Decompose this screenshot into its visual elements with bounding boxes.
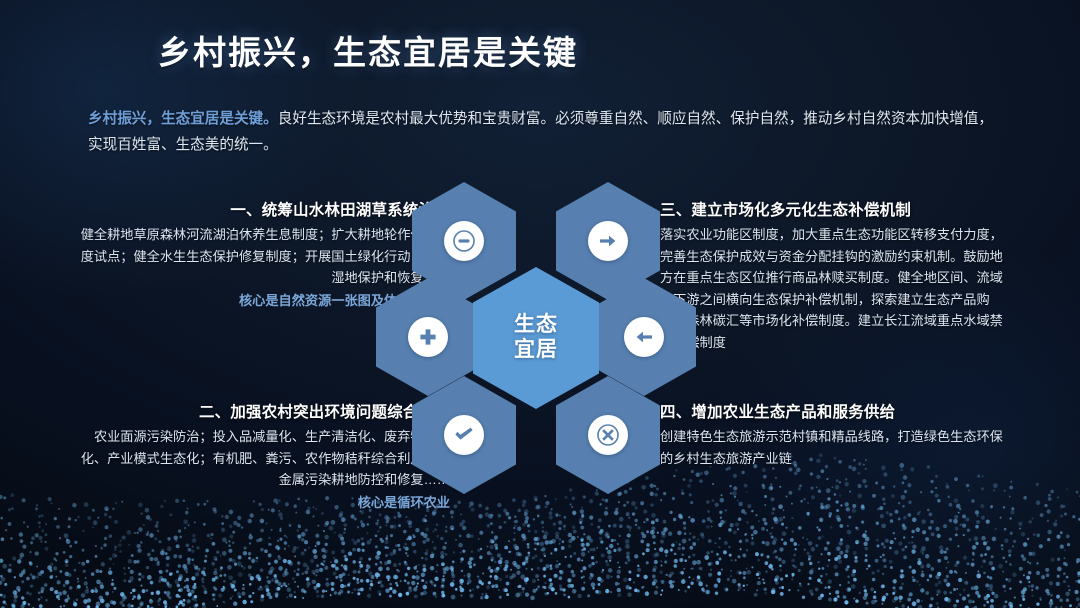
hexagon-center[interactable]: 生态 宜居: [473, 267, 599, 409]
intro-paragraph: 乡村振兴，生态宜居是关键。良好生态环境是农村最大优势和宝贵财富。必须尊重自然、顺…: [88, 106, 993, 158]
section-block-four: 四、增加农业生态产品和服务供给 创建特色生态旅游示范村镇和精品线路，打造绿色生态…: [660, 400, 1005, 469]
section-three-heading: 三、建立市场化多元化生态补偿机制: [660, 198, 1005, 220]
arrow-left-icon: [624, 317, 664, 357]
close-x-icon: [588, 415, 628, 455]
slide-title: 乡村振兴，生态宜居是关键: [158, 26, 578, 74]
section-three-body: 落实农业功能区制度，加大重点生态功能区转移支付力度，完善生态保护成效与资金分配挂…: [660, 224, 1005, 353]
minus-circle-icon: [444, 221, 484, 261]
section-two-core-note: 核心是循环农业: [80, 492, 450, 511]
check-icon: [444, 415, 484, 455]
slide-canvas: 乡村振兴，生态宜居是关键 乡村振兴，生态宜居是关键。良好生态环境是农村最大优势和…: [0, 0, 1080, 608]
section-block-three: 三、建立市场化多元化生态补偿机制 落实农业功能区制度，加大重点生态功能区转移支付…: [660, 198, 1005, 353]
section-four-heading: 四、增加农业生态产品和服务供给: [660, 400, 1005, 422]
intro-lead-text: 乡村振兴，生态宜居是关键。: [88, 111, 278, 127]
section-four-body: 创建特色生态旅游示范村镇和精品线路，打造绿色生态环保的乡村生态旅游产业链: [660, 426, 1005, 469]
center-label-line1: 生态: [514, 313, 558, 338]
hexagon-cluster: 生态 宜居: [376, 182, 696, 494]
center-label-line2: 宜居: [514, 338, 558, 363]
arrow-right-icon: [588, 221, 628, 261]
plus-icon: [408, 317, 448, 357]
